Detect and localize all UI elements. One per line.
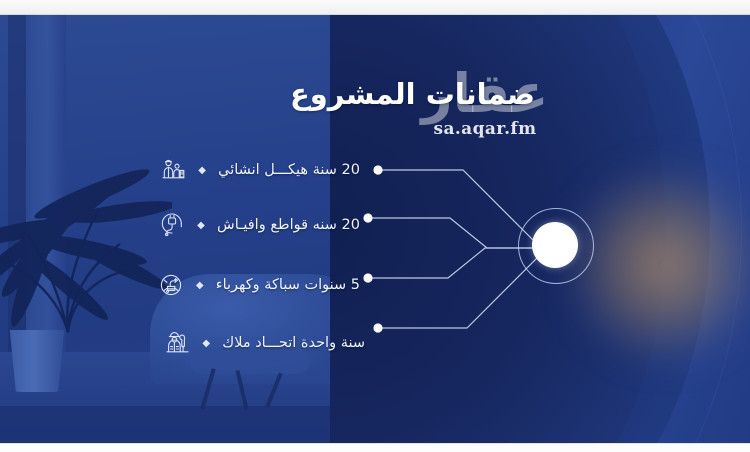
- list-item[interactable]: سنة واحدة اتحـــاد ملاك ◆: [164, 328, 365, 358]
- screenshot-root: عقار sa.aqar.fm ضمانات المشروع: [0, 0, 750, 452]
- power-plug-icon: [159, 212, 185, 238]
- bullet-diamond-icon: ◆: [195, 165, 209, 176]
- slide-canvas: عقار sa.aqar.fm ضمانات المشروع: [0, 15, 750, 444]
- faucet-plumbing-icon: [158, 272, 184, 298]
- viewer-chrome-top: [0, 0, 750, 15]
- bullet-diamond-icon: ◆: [199, 338, 213, 349]
- viewer-chrome-bottom: [0, 443, 750, 452]
- list-item[interactable]: 20 سنه قواطع وافيـاش ◆: [159, 210, 360, 240]
- list-item-label: 20 سنة هيكـــل انشائي: [218, 162, 360, 178]
- bullet-diamond-icon: ◆: [193, 280, 207, 291]
- list-item[interactable]: 5 سنوات سباكة وكهرباء ◆: [158, 270, 360, 300]
- worker-wrench-icon: [164, 330, 190, 356]
- list-item-label: 5 سنوات سباكة وكهرباء: [216, 277, 360, 293]
- list-item-label: سنة واحدة اتحـــاد ملاك: [222, 335, 365, 351]
- guarantees-list: 20 سنة هيكـــل انشائي ◆: [0, 15, 750, 444]
- list-item-label: 20 سنه قواطع وافيـاش: [217, 217, 360, 233]
- bullet-diamond-icon: ◆: [194, 220, 208, 231]
- engineer-team-icon: [160, 157, 186, 183]
- list-item[interactable]: 20 سنة هيكـــل انشائي ◆: [160, 155, 360, 185]
